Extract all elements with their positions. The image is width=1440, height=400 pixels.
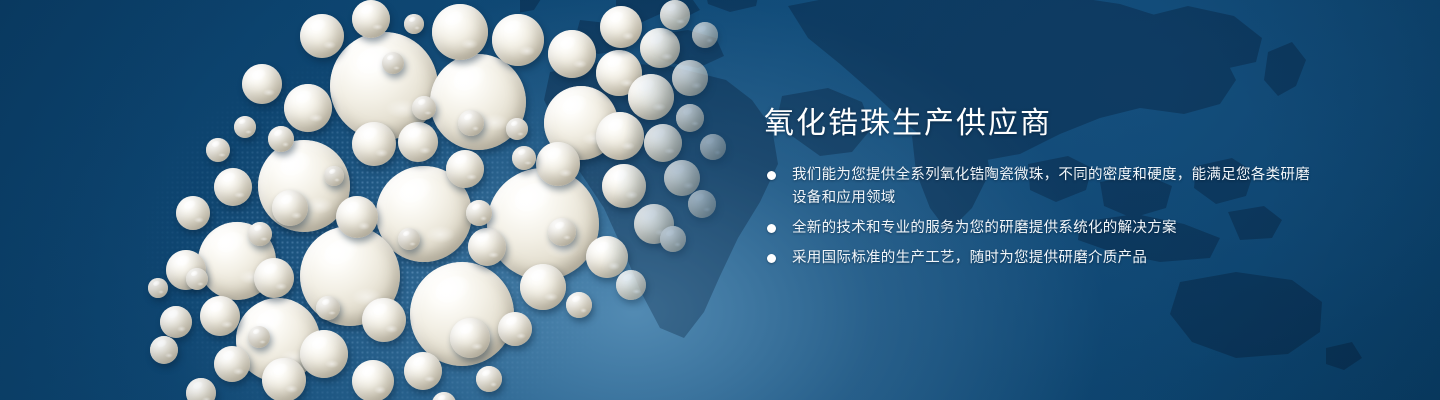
list-item-label: 采用国际标准的生产工艺，随时为您提供研磨介质产品 [792, 250, 1147, 266]
banner-content: 氧化锆珠生产供应商 我们能为您提供全系列氧化锆陶瓷微珠，不同的密度和硬度，能满足… [764, 104, 1324, 270]
hero-banner: 氧化锆珠生产供应商 我们能为您提供全系列氧化锆陶瓷微珠，不同的密度和硬度，能满足… [0, 0, 1440, 400]
list-item: 全新的技术和专业的服务为您的研磨提供系统化的解决方案 [764, 217, 1324, 240]
feature-list: 我们能为您提供全系列氧化锆陶瓷微珠，不同的密度和硬度，能满足您各类研磨设备和应用… [764, 164, 1324, 270]
bullet-dot-icon [767, 224, 776, 233]
page-title: 氧化锆珠生产供应商 [764, 104, 1324, 144]
list-item-label: 我们能为您提供全系列氧化锆陶瓷微珠，不同的密度和硬度，能满足您各类研磨设备和应用… [792, 167, 1310, 206]
list-item: 采用国际标准的生产工艺，随时为您提供研磨介质产品 [764, 247, 1324, 270]
bullet-dot-icon [767, 171, 776, 180]
list-item: 我们能为您提供全系列氧化锆陶瓷微珠，不同的密度和硬度，能满足您各类研磨设备和应用… [764, 164, 1324, 210]
list-item-label: 全新的技术和专业的服务为您的研磨提供系统化的解决方案 [792, 220, 1177, 236]
bullet-dot-icon [767, 254, 776, 263]
